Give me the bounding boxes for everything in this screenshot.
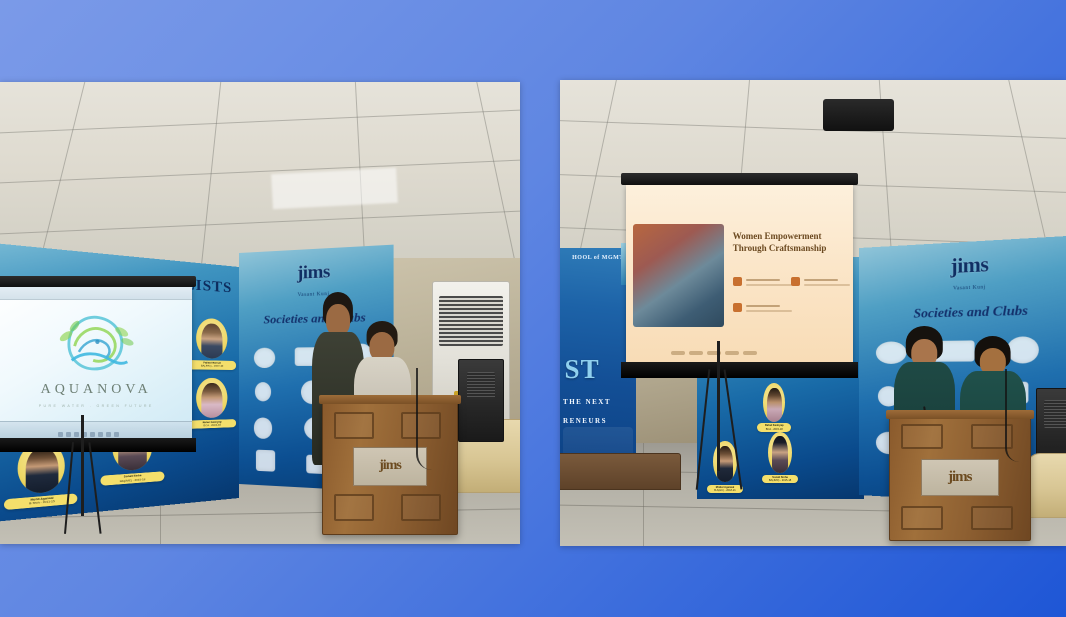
powerpoint-top-chrome bbox=[0, 287, 192, 301]
tripod-center-post-right bbox=[717, 341, 720, 471]
club-logo-chaos bbox=[257, 450, 276, 472]
medallist-course: BCA - 2015-18 bbox=[187, 423, 236, 428]
screen-bottom-bar bbox=[0, 438, 196, 452]
medallist-course: BA(JMC) - 2007-10 bbox=[187, 364, 236, 368]
slide-bullet-2 bbox=[791, 277, 839, 286]
aquanova-tagline: PURE WATER . GREEN FUTURE bbox=[0, 404, 192, 408]
screen-top-bar bbox=[0, 276, 196, 287]
tripod-center-post bbox=[81, 415, 84, 517]
slide-photo-craftswomen bbox=[633, 224, 724, 326]
club-logo-apertura bbox=[254, 417, 273, 439]
speaker-box-left bbox=[458, 359, 505, 442]
screen-top-bar-right bbox=[621, 173, 858, 185]
club-logo-heritage bbox=[254, 347, 276, 368]
jims-logo-text-right: jims bbox=[859, 248, 1066, 283]
front-desk-right bbox=[560, 453, 681, 490]
powerpoint-bottom-chrome bbox=[0, 421, 192, 438]
club-logo-music bbox=[255, 382, 271, 401]
slide-title-right: Women Empowerment Through Craftsmanship bbox=[733, 231, 845, 254]
projector-screen-left: AQUANOVA PURE WATER . GREEN FUTURE bbox=[0, 276, 192, 452]
ceiling-left bbox=[0, 82, 520, 276]
aquanova-wordmark: AQUANOVA bbox=[0, 382, 192, 398]
medallist-chip-1: Pallavi Bansal BA(JMC) - 2007-10 bbox=[196, 318, 227, 359]
podium-left: jims bbox=[322, 401, 457, 535]
jims-logo-subtitle-right: Vasant Kunj bbox=[859, 281, 1066, 295]
screen-canvas-left: AQUANOVA PURE WATER . GREEN FUTURE bbox=[0, 287, 192, 438]
slide-bullet-1 bbox=[733, 277, 781, 286]
entre-banner-line1: THE NEXT bbox=[563, 398, 634, 406]
podium-plaque-text: jims bbox=[948, 469, 972, 486]
medallist-chip-2: Rahul Kashyap BCA - 2015-18 bbox=[196, 378, 227, 419]
slide-aquanova: AQUANOVA PURE WATER . GREEN FUTURE bbox=[0, 287, 192, 438]
medallist-chip-r4: Sonali Sinha BA(JMC) - 2015-18 bbox=[768, 432, 791, 473]
slide-bullet-3 bbox=[733, 303, 781, 312]
podium-plaque-text: jims bbox=[379, 458, 401, 474]
medallist-course: BCA - 2015-18 bbox=[757, 428, 791, 431]
podium-cable-left bbox=[416, 368, 432, 470]
taskbar-icons bbox=[58, 432, 119, 437]
slide-footer-strip bbox=[671, 351, 757, 355]
aquanova-logo-icon bbox=[44, 305, 148, 384]
projector-screen-right: Women Empowerment Through Craftsmanship bbox=[626, 173, 854, 378]
slide-women-empowerment: Women Empowerment Through Craftsmanship bbox=[626, 185, 854, 361]
entre-banner-line2: RENEURS bbox=[563, 417, 634, 425]
banner-title-right: Societies and Clubs bbox=[859, 300, 1066, 323]
podium-plaque-right: jims bbox=[921, 459, 999, 496]
collage-canvas: jims Vasant Kunj Societies and Clubs LIS… bbox=[0, 0, 1066, 617]
medallist-course: B.A(HC) - 2018-21 bbox=[707, 489, 743, 492]
medallist-chip-r2: Rahul Kashyap BCA - 2015-18 bbox=[763, 383, 785, 422]
podium-cable-right bbox=[1005, 369, 1019, 462]
medallist-course: BA(JMC) - 2015-18 bbox=[762, 479, 798, 482]
entre-banner-big-text: ST bbox=[565, 354, 600, 385]
jims-logo-subtitle: Vasant Kunj bbox=[239, 289, 393, 299]
side-counter-right bbox=[1026, 453, 1066, 518]
ceiling-projector bbox=[823, 99, 894, 132]
screen-canvas-right: Women Empowerment Through Craftsmanship bbox=[626, 185, 854, 361]
slide-bullets bbox=[733, 277, 847, 313]
photo-right: HOOL of MGMT ST THE NEXT RENEURS jims DA… bbox=[560, 80, 1066, 546]
screen-bottom-bar-right bbox=[621, 362, 858, 378]
photo-left: jims Vasant Kunj Societies and Clubs LIS… bbox=[0, 82, 520, 544]
jims-logo-text: jims bbox=[239, 257, 393, 285]
